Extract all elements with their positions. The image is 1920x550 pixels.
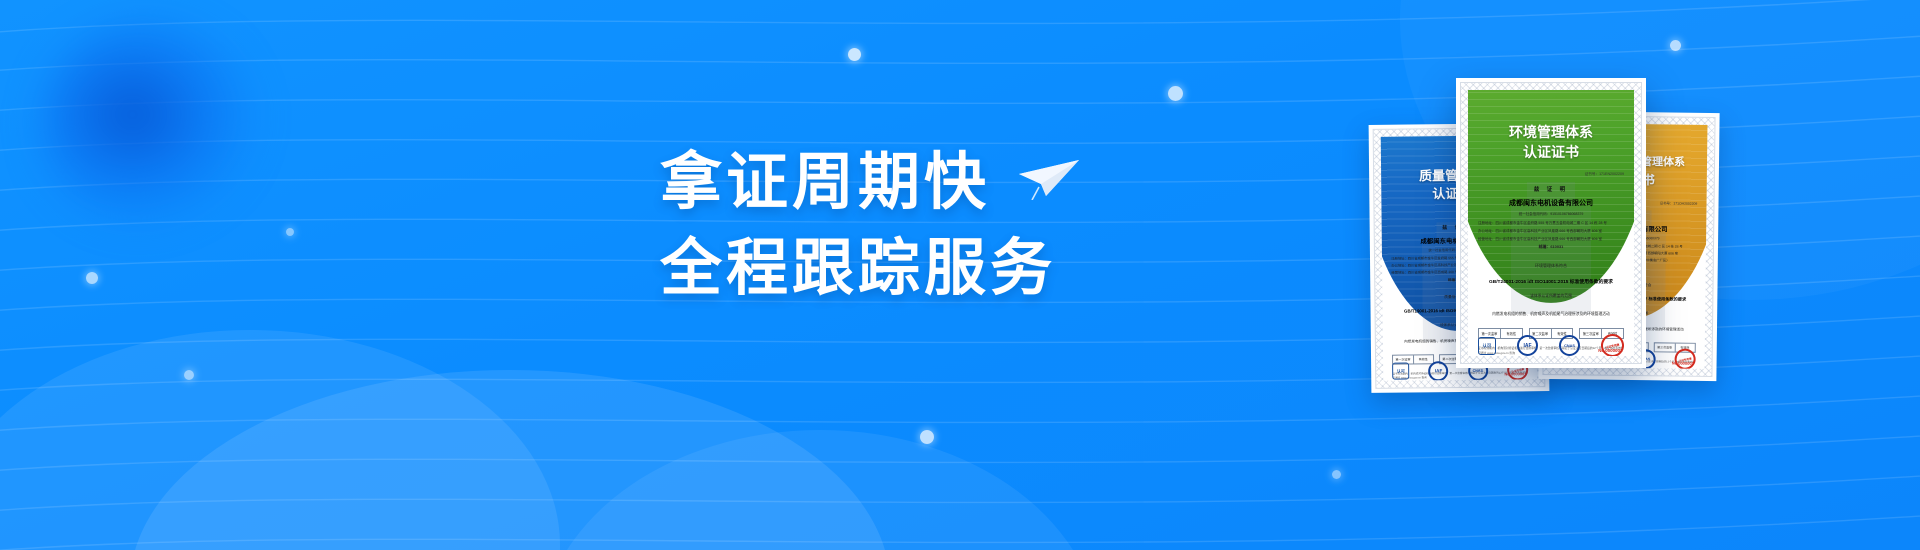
sparkle-dot: [1168, 86, 1183, 101]
certificate-proof-label: 兹 证 明: [1478, 185, 1624, 193]
cnca-seal-icon: 认可: [1478, 337, 1496, 355]
certificate-scope-label: 该体系认证所覆盖的范围: [1478, 293, 1624, 300]
sparkle-dot: [86, 272, 98, 284]
certificate-scope-text: 内燃发电机组的销售、机房噪声及机组尾气治理所涉及的环境管理活动: [1478, 311, 1624, 318]
promo-banner: 拿证周期快 全程跟踪服务: [0, 0, 1920, 550]
certificate-serial: 证书号：171EN2002209: [1478, 172, 1624, 177]
sparkle-dot: [1332, 470, 1341, 479]
dark-blue-glow-blob: [40, 20, 260, 230]
certificate-postcode: 邮编：610031: [1478, 244, 1624, 251]
sparkle-dot: [286, 228, 294, 236]
certificate-number: No.0000001: [1598, 348, 1622, 353]
certificate-credit-code: 统一社会信用代码：91510106766068379: [1478, 211, 1624, 217]
certificate-address-1: 注册地址：四川省成都市金牛区金府路 555 号万贯五金机电城二期 C 区 14 …: [1478, 220, 1624, 226]
headline-row-2: 全程跟踪服务: [660, 226, 1084, 312]
cnas-seal-icon: CNAS: [1559, 335, 1580, 356]
paper-plane-icon: [1016, 156, 1084, 205]
certificate-environment[interactable]: 环境管理体系 认证证书 证书号：171EN2002209 兹 证 明 成都闽东电…: [1456, 78, 1646, 368]
certificate-title-1: 环境管理体系: [1468, 124, 1634, 142]
headline-row-1: 拿证周期快: [660, 140, 1084, 226]
headline-block: 拿证周期快 全程跟踪服务: [660, 140, 1084, 311]
certificate-address-2: 办公地址：四川省成都市金牛区高科技产业区凤凰路 666 号西部朝阳大厦 606 …: [1478, 228, 1624, 234]
sparkle-dot: [920, 430, 934, 444]
certificate-stack: 质量管理体系 认证证书 证书号：171CN2002209 兹 证 明 成都闽东电…: [1370, 78, 1900, 408]
iaf-seal-icon: IAF: [1428, 361, 1448, 381]
cnca-seal-icon: 认可: [1392, 363, 1409, 380]
sparkle-dot: [1670, 40, 1681, 51]
iaf-seal-icon: IAF: [1517, 335, 1538, 356]
headline-line-1: 拿证周期快: [660, 140, 990, 226]
sparkle-dot: [848, 48, 861, 61]
certificate-system-label: 环境管理体系符合: [1478, 262, 1624, 269]
sparkle-dot: [184, 370, 194, 380]
certificate-number: No.0000001: [1672, 361, 1694, 366]
certificate-title-2: 认证证书: [1468, 144, 1634, 162]
certificate-number: No.0000001: [1504, 371, 1526, 376]
certificate-company: 成都闽东电机设备有限公司: [1478, 198, 1624, 208]
headline-line-2: 全程跟踪服务: [660, 226, 1056, 312]
certificate-standard: GB/T24001-2016 idt ISO14001:2015 标准使用条款的…: [1478, 278, 1624, 285]
certificate-address-3: 经营地址：四川省成都市金牛区高科技产业区凤凰路 666 号西部朝阳大厦 606 …: [1478, 236, 1624, 242]
